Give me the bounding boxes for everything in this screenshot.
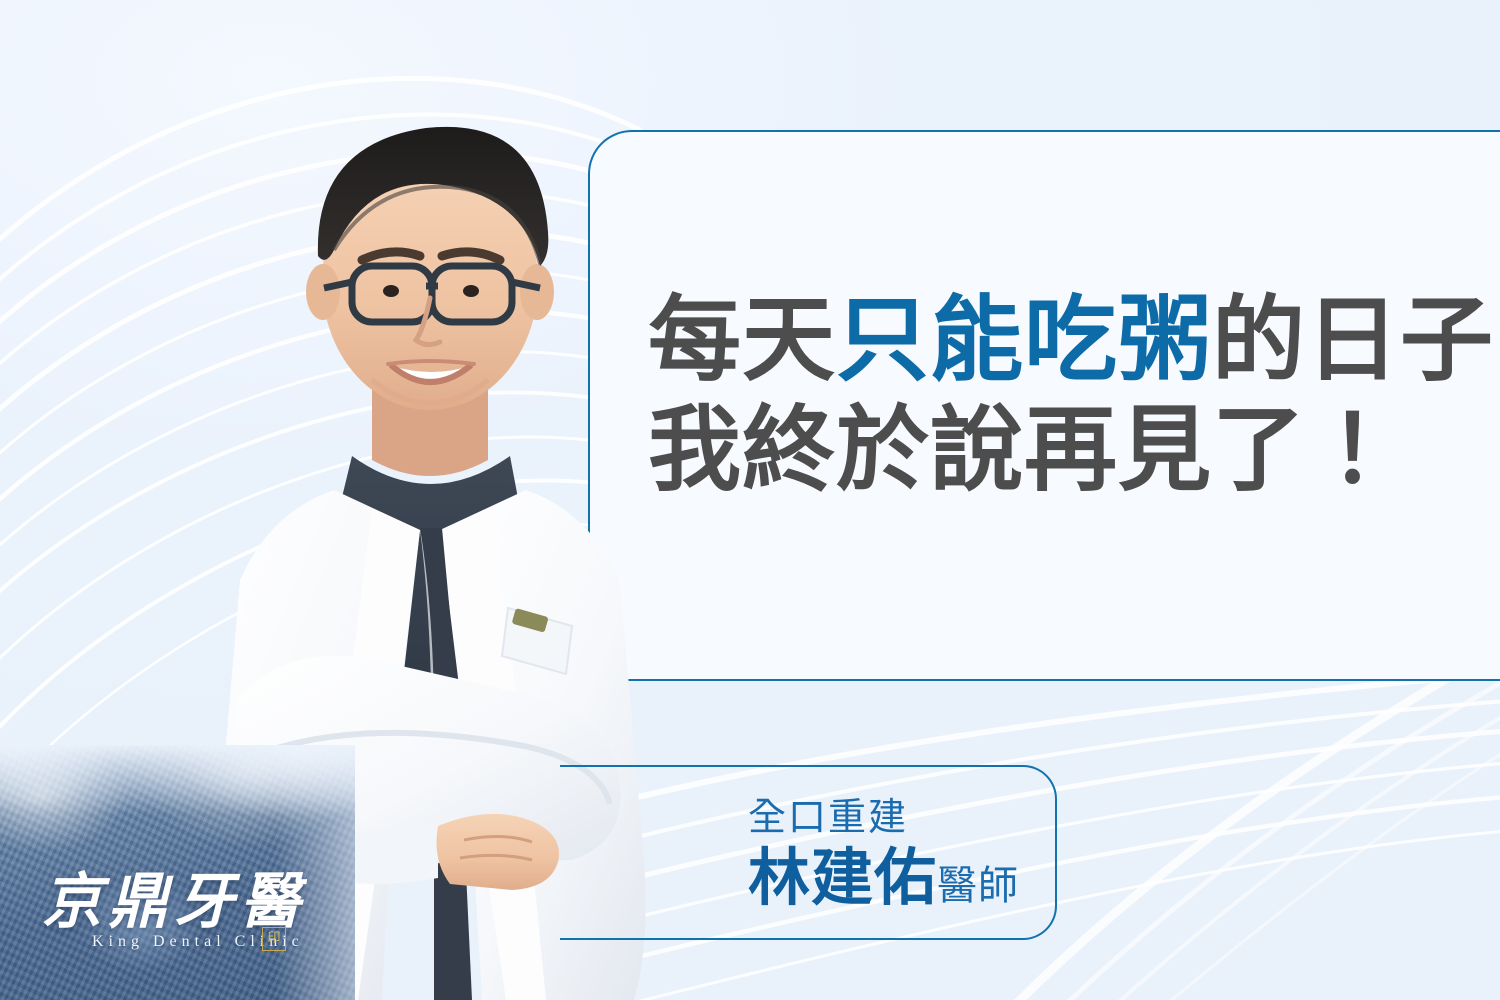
headline-line1-post: 的日子 — [1212, 288, 1494, 392]
logo-seal-icon: 印 — [262, 927, 286, 951]
doctor-title: 醫師 — [937, 864, 1019, 908]
doctor-name-card-text: 全口重建 林建佑醫師 — [748, 798, 1019, 911]
clinic-logo: 京鼎牙醫 King Dental Clinic 印 — [0, 745, 355, 1000]
headline-line-1: 每天只能吃粥的日子 — [648, 286, 1468, 396]
clinic-promo-banner: 每天只能吃粥的日子 我終於說再見了！ — [0, 0, 1500, 1000]
doctor-specialty: 全口重建 — [748, 798, 1019, 840]
doctor-name-line: 林建佑醫師 — [748, 846, 1019, 911]
headline: 每天只能吃粥的日子 我終於說再見了！ — [648, 286, 1468, 505]
headline-line-2: 我終於說再見了！ — [648, 396, 1468, 506]
doctor-name: 林建佑 — [748, 844, 937, 913]
headline-line1-accent: 只能吃粥 — [836, 288, 1212, 392]
